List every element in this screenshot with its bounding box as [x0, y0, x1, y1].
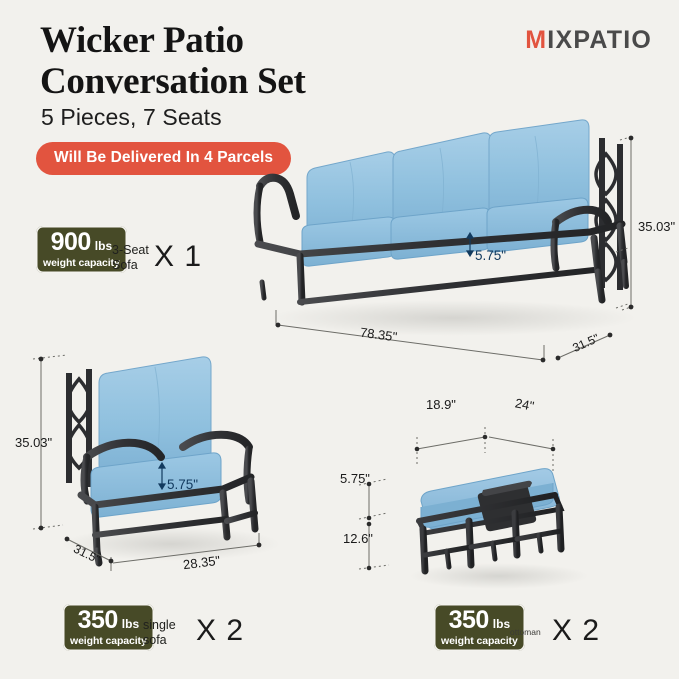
- brand-logo: MIXPATIO: [525, 26, 652, 55]
- sofa-cushion-dim-line: [462, 229, 502, 263]
- sofa-weight-unit: lbs: [95, 240, 112, 252]
- sofa-dimension-lines: [238, 110, 668, 370]
- logo-accent-letter: M: [525, 26, 547, 55]
- chair-weight-caption: weight capacity: [70, 636, 147, 647]
- infographic-canvas: Wicker Patio Conversation Set 5 Pieces, …: [0, 0, 679, 679]
- ottoman-leg-height-label: 12.6": [343, 531, 373, 546]
- sofa-weight-caption: weight capacity: [43, 258, 120, 269]
- ottoman-weight-number: 350: [449, 608, 489, 633]
- chair-item-name: single sofa: [143, 618, 176, 648]
- chair-weight-unit: lbs: [122, 618, 139, 630]
- ottoman-dimension-lines: [337, 417, 567, 577]
- logo-text: IXPATIO: [547, 26, 652, 55]
- ottoman-illustration: 18.9" 24" 5.75" 12.6": [405, 455, 595, 595]
- title-line-1: Wicker Patio: [40, 20, 244, 61]
- sofa-quantity: X 1: [154, 240, 202, 274]
- ottoman-weight-unit: lbs: [493, 618, 510, 630]
- chair-name-line-2: sofa: [143, 633, 176, 648]
- chair-quantity: X 2: [196, 614, 244, 648]
- ottoman-weight-caption: weight capacity: [441, 636, 518, 647]
- chair-cushion-dim-line: [153, 458, 193, 498]
- chair-height-label: 35.03": [15, 435, 52, 450]
- ottoman-quantity: X 2: [552, 614, 600, 648]
- sofa-name-line-1: 3-Seat: [112, 243, 149, 258]
- chair-weight-badge: 350 lbs weight capacity: [63, 604, 154, 651]
- ottoman-cushion-label: 5.75": [340, 471, 370, 486]
- sofa-name-line-2: Sofa: [112, 258, 149, 273]
- chair-dimension-lines: [15, 347, 285, 592]
- chair-name-line-1: single: [143, 618, 176, 633]
- sofa-illustration: 78.35" 31.5" 35.03" 5.75": [250, 120, 650, 350]
- chair-illustration: 35.03" 31.5" 28.35" 5.75": [55, 355, 285, 570]
- chair-weight-number: 350: [78, 608, 118, 633]
- ottoman-item-name: ottoman: [510, 627, 541, 637]
- sofa-item-name: 3-Seat Sofa: [112, 243, 149, 273]
- sofa-weight-number: 900: [51, 230, 91, 255]
- title-line-2: Conversation Set: [40, 61, 470, 102]
- ottoman-width-label: 18.9": [426, 397, 456, 412]
- ottoman-depth-label: 24": [514, 395, 536, 413]
- sofa-height-label: 35.03": [638, 219, 675, 234]
- page-title: Wicker Patio Conversation Set: [40, 20, 470, 103]
- subtitle: 5 Pieces, 7 Seats: [41, 104, 222, 131]
